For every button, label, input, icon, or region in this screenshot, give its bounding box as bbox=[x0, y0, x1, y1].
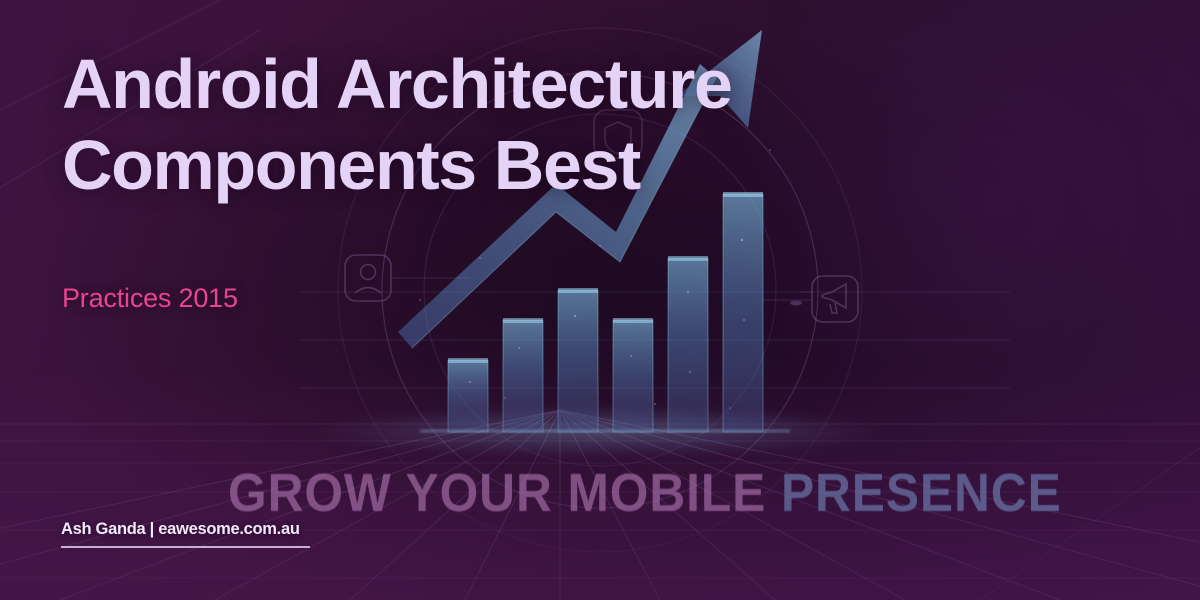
headline-line-2: Components Best bbox=[62, 126, 640, 204]
byline-underline bbox=[61, 546, 310, 548]
ghost-wordmark-primary: GROW YOUR MOBILE bbox=[228, 463, 766, 523]
byline[interactable]: Ash Ganda | eawesome.com.au bbox=[61, 520, 310, 548]
ghost-wordmark: GROW YOUR MOBILE PRESENCE bbox=[228, 462, 1062, 524]
page-subtitle: Practices 2015 bbox=[62, 283, 238, 314]
headline-line-1: Android Architecture bbox=[62, 45, 731, 123]
byline-text: Ash Ganda | eawesome.com.au bbox=[61, 520, 310, 546]
headline-block: Android Architecture Components Best bbox=[62, 44, 822, 206]
network-nodes bbox=[790, 301, 802, 306]
ghost-wordmark-secondary: PRESENCE bbox=[781, 463, 1062, 523]
megaphone-icon bbox=[812, 276, 858, 322]
page-title: Android Architecture Components Best bbox=[62, 44, 822, 206]
banner-canvas: GROW YOUR MOBILE PRESENCE Android Archit… bbox=[0, 0, 1200, 600]
